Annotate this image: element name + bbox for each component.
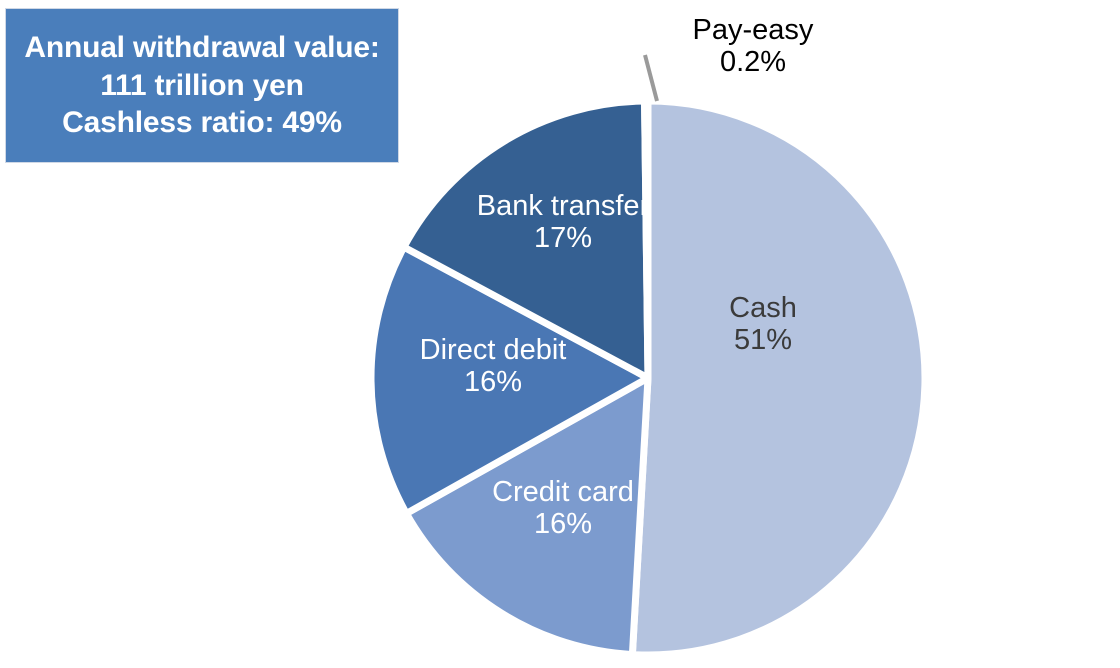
pay-easy-leader-line <box>645 55 657 101</box>
pie-svg <box>0 0 1120 668</box>
pie-slice-cash <box>632 101 925 655</box>
pie-slice-pay-easy <box>645 101 648 378</box>
pie-slices-group <box>371 101 925 655</box>
pie-chart-figure: Annual withdrawal value: 111 trillion ye… <box>0 0 1120 668</box>
